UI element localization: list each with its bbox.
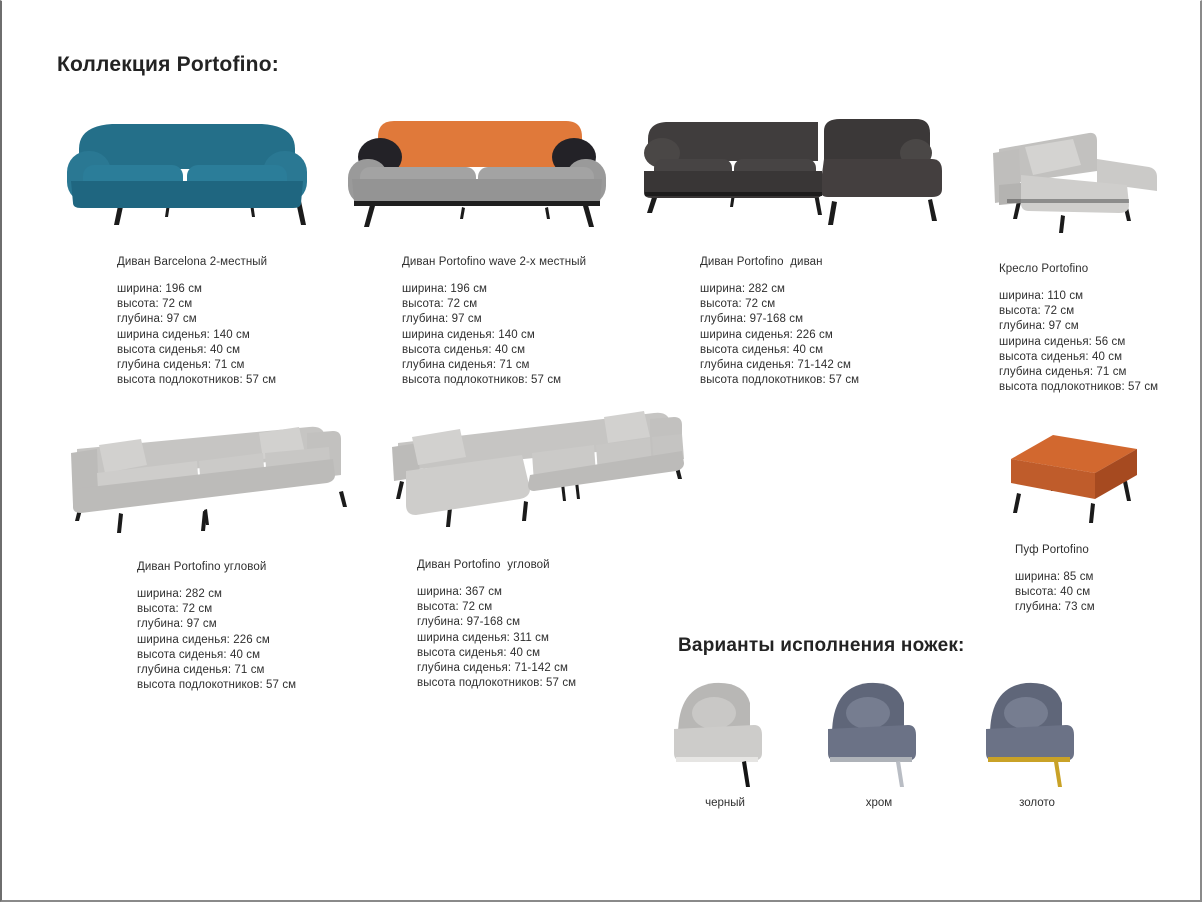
spec-height: высота: 72 см: [402, 297, 642, 312]
spec-width: ширина: 196 см: [117, 282, 357, 297]
product-specs: ширина: 85 см высота: 40 см глубина: 73 …: [1015, 570, 1187, 616]
product-image-sofa-portofino-corner-282: [57, 413, 367, 543]
product-image-armchair-portofino: [977, 119, 1197, 241]
spec-seat-height: высота сиденья: 40 см: [999, 350, 1197, 365]
spec-seat-depth: глубина сиденья: 71 см: [117, 358, 357, 373]
leg-variant-label: хром: [824, 797, 934, 809]
spec-seat-depth: глубина сиденья: 71-142 см: [417, 661, 702, 676]
product-card-armchair-portofino[interactable]: Кресло Portofino ширина: 110 см высота: …: [977, 119, 1197, 395]
product-card-sofa-barcelona-2[interactable]: Диван Barcelona 2-местный ширина: 196 см…: [57, 109, 357, 388]
spec-seat-height: высота сиденья: 40 см: [417, 646, 702, 661]
leg-variant-gold[interactable]: золото: [982, 669, 1092, 809]
leg-variant-label: черный: [670, 797, 780, 809]
page-title: Коллекция Portofino:: [57, 53, 279, 77]
spec-armrest-height: высота подлокотников: 57 см: [117, 373, 357, 388]
product-specs: ширина: 367 см высота: 72 см глубина: 97…: [417, 585, 702, 691]
spec-armrest-height: высота подлокотников: 57 см: [700, 373, 942, 388]
spec-width: ширина: 196 см: [402, 282, 642, 297]
spec-height: высота: 72 см: [117, 297, 357, 312]
spec-seat-depth: глубина сиденья: 71 см: [999, 365, 1197, 380]
spec-seat-width: ширина сиденья: 311 см: [417, 631, 702, 646]
product-card-sofa-portofino-wave-2[interactable]: Диван Portofino wave 2-х местный ширина:…: [342, 109, 642, 388]
spec-width: ширина: 367 см: [417, 585, 702, 600]
product-name: Диван Portofino угловой: [417, 559, 702, 571]
product-name: Кресло Portofino: [999, 263, 1197, 275]
product-name: Диван Portofino диван: [700, 256, 942, 268]
product-image-sofa-barcelona-2: [57, 109, 357, 234]
spec-armrest-height: высота подлокотников: 57 см: [999, 380, 1197, 395]
spec-seat-width: ширина сиденья: 226 см: [700, 328, 942, 343]
leg-black-icon: [670, 669, 780, 789]
product-specs: ширина: 282 см высота: 72 см глубина: 97…: [700, 282, 942, 388]
leg-chrome-icon: [824, 669, 934, 789]
spec-seat-depth: глубина сиденья: 71 см: [402, 358, 642, 373]
product-image-sofa-portofino-divan: [632, 109, 942, 234]
spec-depth: глубина: 97 см: [402, 312, 642, 327]
product-specs: ширина: 110 см высота: 72 см глубина: 97…: [999, 289, 1197, 395]
product-name: Диван Portofino угловой: [137, 561, 367, 573]
spec-armrest-height: высота подлокотников: 57 см: [402, 373, 642, 388]
spec-seat-width: ширина сиденья: 56 см: [999, 335, 1197, 350]
product-specs: ширина: 196 см высота: 72 см глубина: 97…: [402, 282, 642, 388]
spec-seat-depth: глубина сиденья: 71-142 см: [700, 358, 942, 373]
spec-seat-height: высота сиденья: 40 см: [117, 343, 357, 358]
spec-height: высота: 72 см: [999, 304, 1197, 319]
product-specs: ширина: 282 см высота: 72 см глубина: 97…: [137, 587, 367, 693]
product-image-sofa-portofino-wave-2: [342, 109, 642, 234]
spec-seat-height: высота сиденья: 40 см: [700, 343, 942, 358]
spec-depth: глубина: 97-168 см: [417, 615, 702, 630]
product-card-sofa-portofino-corner-282[interactable]: Диван Portofino угловой ширина: 282 см в…: [57, 413, 367, 693]
spec-height: высота: 72 см: [417, 600, 702, 615]
spec-depth: глубина: 97 см: [137, 617, 367, 632]
product-name: Диван Barcelona 2-местный: [117, 256, 357, 268]
product-card-sofa-portofino-divan[interactable]: Диван Portofino диван ширина: 282 см выс…: [632, 109, 942, 388]
spec-seat-depth: глубина сиденья: 71 см: [137, 663, 367, 678]
leg-gold-icon: [982, 669, 1092, 789]
spec-seat-width: ширина сиденья: 140 см: [402, 328, 642, 343]
product-image-sofa-portofino-corner-367: [382, 403, 702, 541]
spec-armrest-height: высота подлокотников: 57 см: [417, 676, 702, 691]
product-name: Пуф Portofino: [1015, 544, 1187, 556]
spec-height: высота: 72 см: [137, 602, 367, 617]
product-name: Диван Portofino wave 2-х местный: [402, 256, 642, 268]
spec-depth: глубина: 97-168 см: [700, 312, 942, 327]
spec-height: высота: 72 см: [700, 297, 942, 312]
spec-seat-height: высота сиденья: 40 см: [402, 343, 642, 358]
product-card-pouf-portofino[interactable]: Пуф Portofino ширина: 85 см высота: 40 с…: [987, 421, 1187, 616]
spec-depth: глубина: 73 см: [1015, 600, 1187, 615]
legs-section-title: Варианты исполнения ножек:: [678, 635, 965, 657]
spec-seat-width: ширина сиденья: 140 см: [117, 328, 357, 343]
product-image-pouf-portofino: [987, 421, 1187, 526]
leg-variant-chrome[interactable]: хром: [824, 669, 934, 809]
product-card-sofa-portofino-corner-367[interactable]: Диван Portofino угловой ширина: 367 см в…: [382, 403, 702, 691]
spec-armrest-height: высота подлокотников: 57 см: [137, 678, 367, 693]
spec-width: ширина: 282 см: [700, 282, 942, 297]
spec-width: ширина: 282 см: [137, 587, 367, 602]
spec-seat-width: ширина сиденья: 226 см: [137, 633, 367, 648]
product-specs: ширина: 196 см высота: 72 см глубина: 97…: [117, 282, 357, 388]
spec-depth: глубина: 97 см: [999, 319, 1197, 334]
leg-variant-black[interactable]: черный: [670, 669, 780, 809]
spec-height: высота: 40 см: [1015, 585, 1187, 600]
leg-variant-label: золото: [982, 797, 1092, 809]
spec-depth: глубина: 97 см: [117, 312, 357, 327]
spec-width: ширина: 85 см: [1015, 570, 1187, 585]
catalog-page: Коллекция Portofino:: [0, 0, 1202, 902]
spec-width: ширина: 110 см: [999, 289, 1197, 304]
spec-seat-height: высота сиденья: 40 см: [137, 648, 367, 663]
